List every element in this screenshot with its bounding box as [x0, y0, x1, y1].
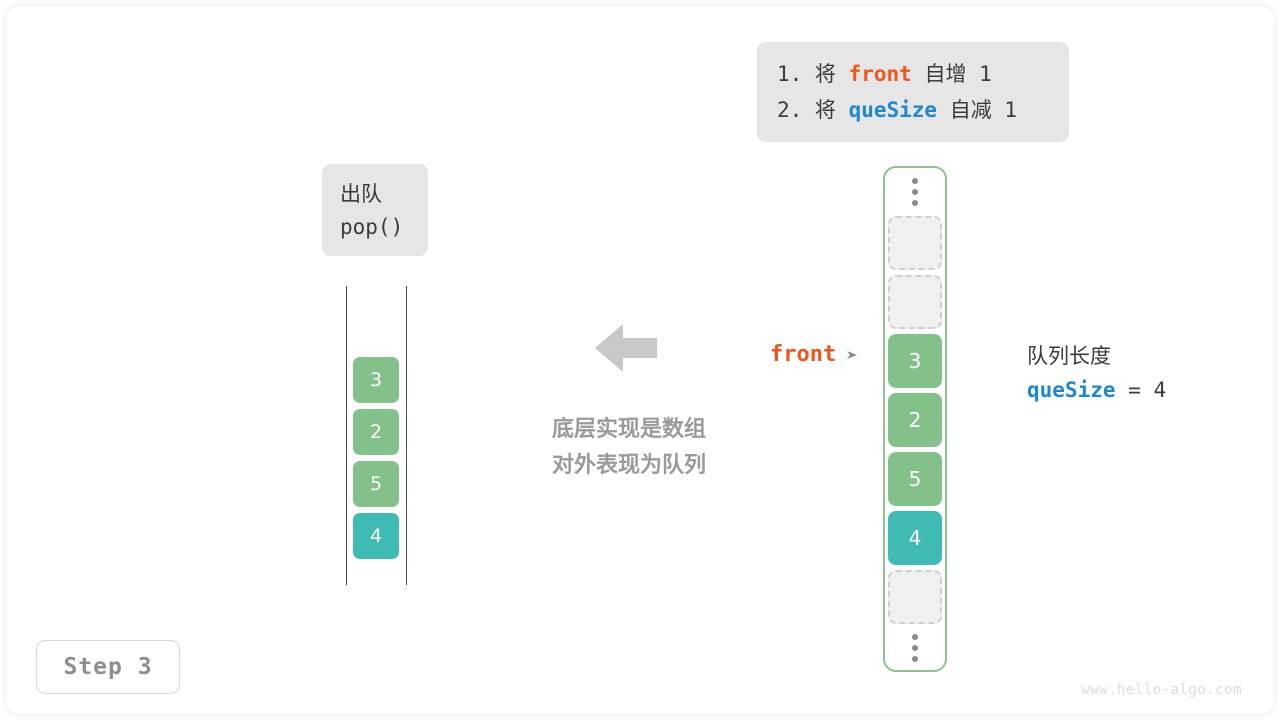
queue-cell: 3: [353, 357, 399, 403]
circular-array-empty-cell: [888, 275, 942, 329]
queue-length-caption: 队列长度: [1027, 340, 1257, 372]
implementation-note: 底层实现是数组 对外表现为队列: [529, 412, 729, 484]
instruction-line-2-keyword: queSize: [849, 98, 938, 122]
instruction-line-2-suffix: 自减 1: [937, 98, 1017, 122]
queue-length-annotation: 队列长度 queSize = 4: [1027, 340, 1257, 408]
queue-cell: 5: [353, 461, 399, 507]
circular-array-cells: 3254: [888, 216, 942, 624]
ellipsis-top-icon: [912, 168, 918, 216]
implementation-note-line-2: 对外表现为队列: [529, 448, 729, 484]
circular-array-cell: 5: [888, 452, 942, 506]
ellipsis-bottom-icon: [912, 624, 918, 672]
implementation-note-line-1: 底层实现是数组: [529, 412, 729, 448]
watermark: www.hello-algo.com: [1081, 682, 1242, 698]
instruction-line-1-prefix: 1. 将: [777, 62, 849, 86]
queue-length-variable: queSize: [1027, 378, 1116, 402]
pop-label-title: 出队: [340, 178, 428, 211]
circular-array-cell: 3: [888, 334, 942, 388]
circular-array-empty-cell: [888, 570, 942, 624]
circular-array-cell: 4: [888, 511, 942, 565]
circular-array-container: 3254: [883, 166, 947, 672]
right-rail-line: [406, 286, 407, 585]
left-rail-line: [346, 286, 347, 585]
circular-array-cell: 2: [888, 393, 942, 447]
step-badge: Step 3: [36, 640, 180, 694]
instruction-line-2-prefix: 2. 将: [777, 98, 849, 122]
left-arrow-icon: [593, 322, 659, 374]
pop-label-code: pop(): [340, 211, 428, 244]
queue-cell: 4: [353, 513, 399, 559]
pop-operation-label: 出队 pop(): [322, 164, 428, 256]
instruction-line-1-keyword: front: [849, 62, 912, 86]
arrow-right-icon: [845, 348, 859, 362]
step-badge-label: Step 3: [63, 654, 152, 680]
left-queue-cells: 3254: [353, 357, 399, 565]
instruction-line-1: 1. 将 front 自增 1: [777, 56, 1049, 92]
diagram-canvas: 1. 将 front 自增 1 2. 将 queSize 自减 1 出队 pop…: [0, 0, 1280, 720]
queue-length-expression: queSize = 4: [1027, 372, 1257, 408]
queue-length-value: = 4: [1116, 378, 1167, 402]
instruction-callout: 1. 将 front 自增 1 2. 将 queSize 自减 1: [757, 42, 1069, 142]
instruction-line-2: 2. 将 queSize 自减 1: [777, 92, 1049, 128]
circular-array-empty-cell: [888, 216, 942, 270]
queue-cell: 2: [353, 409, 399, 455]
front-pointer: front: [770, 342, 859, 367]
instruction-line-1-suffix: 自增 1: [912, 62, 992, 86]
front-pointer-label: front: [770, 342, 836, 367]
